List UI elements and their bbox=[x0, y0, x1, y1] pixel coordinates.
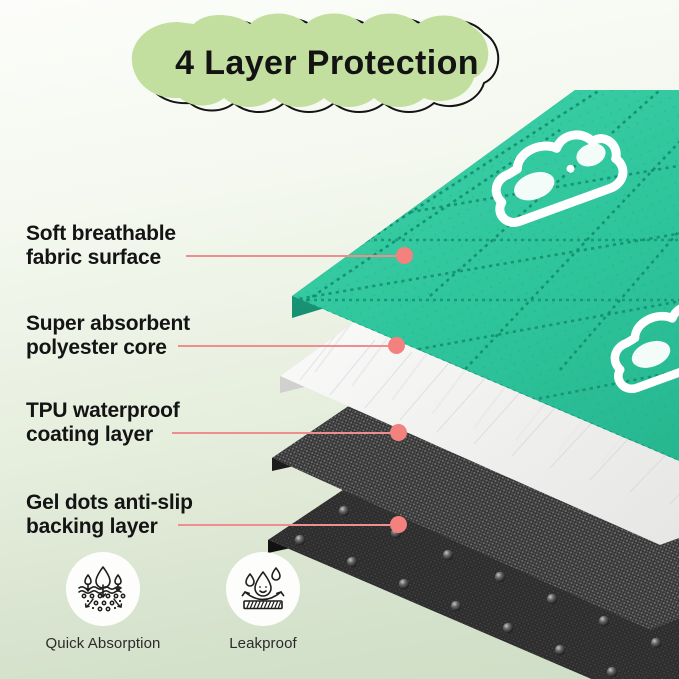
feature-row: Quick Absorption bbox=[28, 552, 358, 672]
callout-label-tpu: TPU waterproof coating layer bbox=[26, 399, 180, 446]
page-title: 4 Layer Protection bbox=[102, 9, 552, 117]
leader-line-core bbox=[178, 345, 390, 347]
infographic-canvas: 4 Layer Protection Soft breathable fabri… bbox=[0, 0, 679, 679]
feature-icon-circle bbox=[66, 552, 140, 626]
leader-dot-fabric bbox=[396, 247, 413, 264]
leakproof-icon bbox=[236, 563, 290, 615]
callout-label-core: Super absorbent polyester core bbox=[26, 312, 190, 359]
leader-dot-gel bbox=[390, 516, 407, 533]
feature-icon-circle bbox=[226, 552, 300, 626]
callout-label-fabric: Soft breathable fabric surface bbox=[26, 222, 176, 269]
leader-line-fabric bbox=[186, 255, 398, 257]
feature-quick-absorption: Quick Absorption bbox=[28, 552, 178, 652]
callout-label-gel: Gel dots anti-slip backing layer bbox=[26, 491, 193, 538]
title-badge: 4 Layer Protection bbox=[108, 8, 558, 116]
feature-label-quick-absorption: Quick Absorption bbox=[28, 635, 178, 652]
leader-line-gel bbox=[178, 524, 390, 526]
feature-label-leakproof: Leakproof bbox=[188, 635, 338, 652]
feature-leakproof: Leakproof bbox=[188, 552, 338, 652]
leader-dot-core bbox=[388, 337, 405, 354]
leader-line-tpu bbox=[172, 432, 390, 434]
quick-absorption-icon bbox=[76, 563, 130, 615]
leader-dot-tpu bbox=[390, 424, 407, 441]
